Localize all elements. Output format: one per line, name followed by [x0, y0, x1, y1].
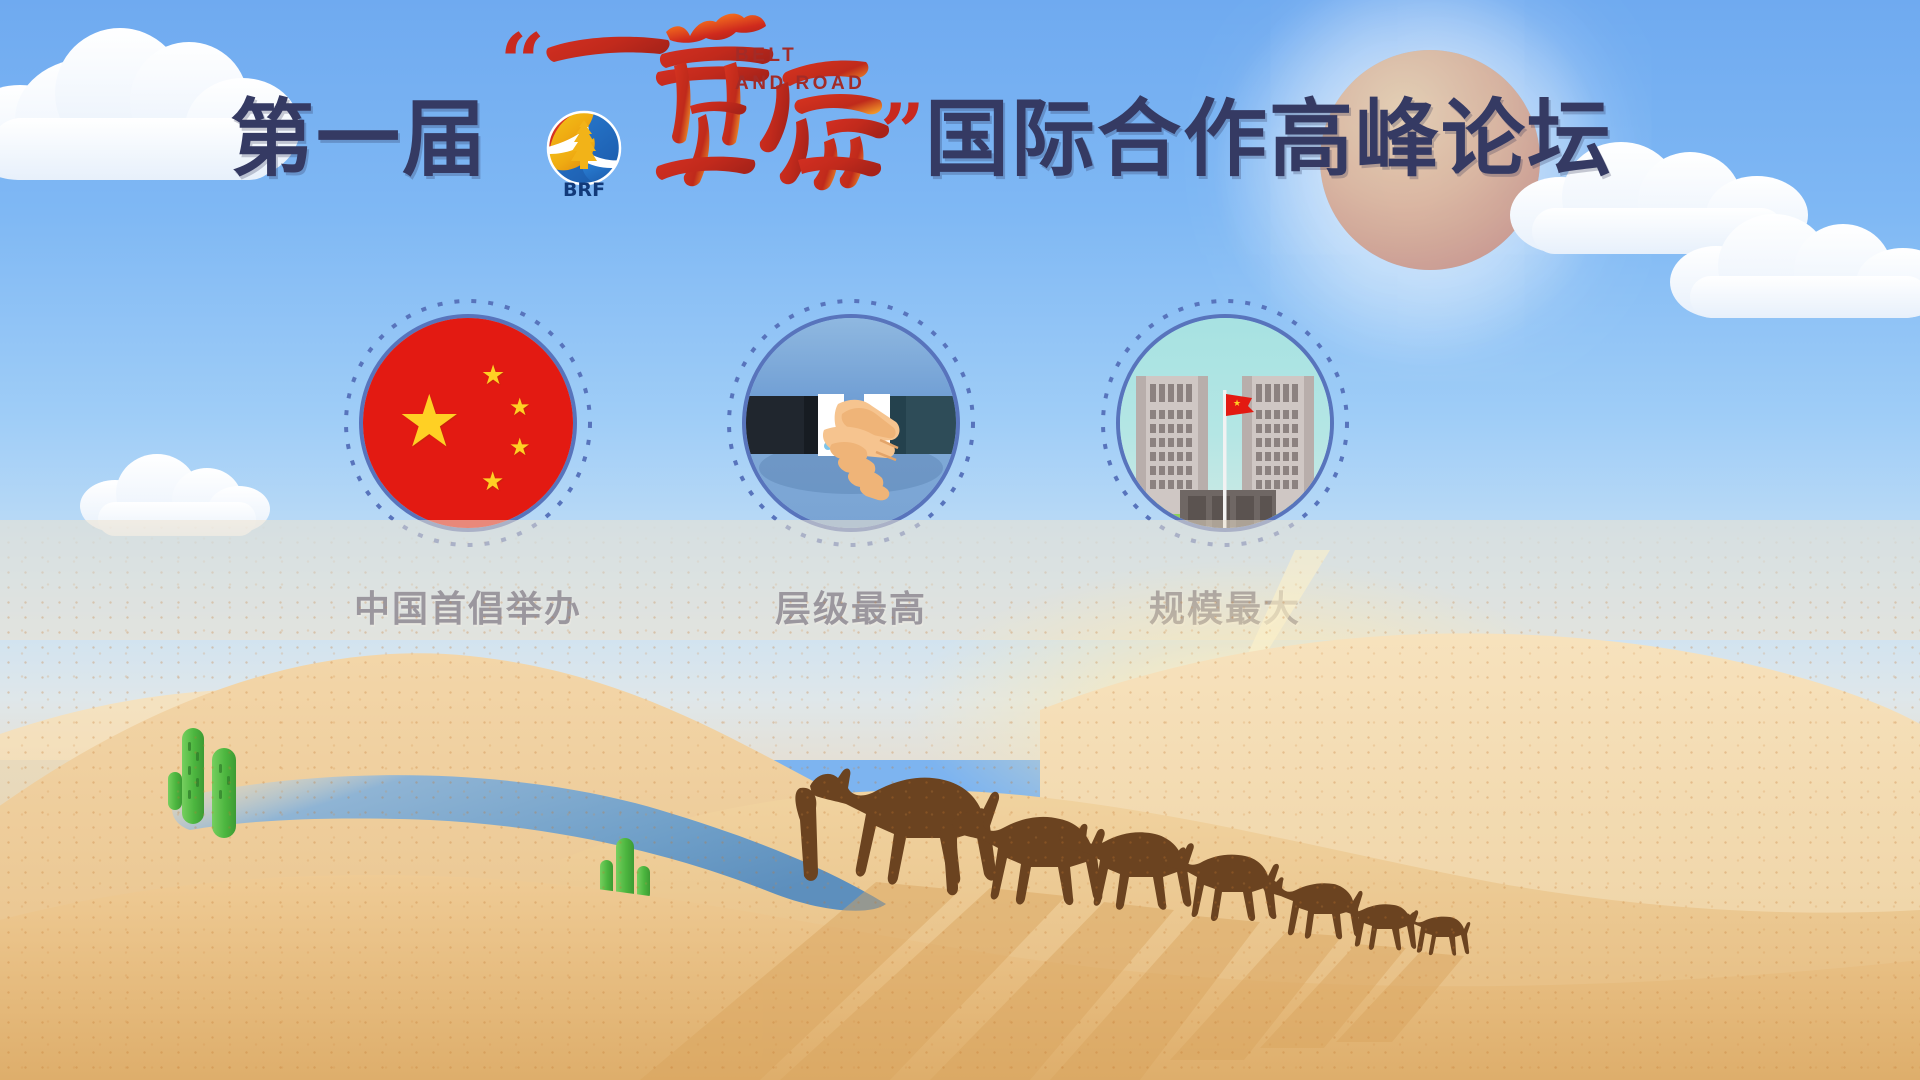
feature-ring-3: ★ [1090, 288, 1360, 558]
svg-text:★: ★ [1233, 399, 1241, 409]
poster-title-band: 第一届 “ [0, 0, 1920, 230]
brf-globe-pagoda-logo: BRF [536, 104, 632, 200]
quote-open-mark: “ [500, 24, 545, 102]
belt-and-road-english: BELT AND ROAD [735, 42, 865, 98]
quote-close-mark: ” [880, 94, 925, 172]
title-suffix: 国际合作高峰论坛 [925, 72, 1613, 193]
english-line-2: AND ROAD [735, 70, 865, 98]
title-prefix: 第一届 [230, 72, 488, 193]
china-flag-icon: ★ ★ ★ ★ ★ [359, 314, 577, 532]
english-line-1: BELT [735, 42, 865, 70]
brf-logo-text: BRF [563, 179, 605, 200]
poster-canvas: 第一届 “ [0, 0, 1920, 1080]
feature-ring-1: ★ ★ ★ ★ ★ [333, 288, 603, 558]
handshake-icon [742, 314, 960, 532]
desert-scene [0, 520, 1920, 1080]
government-buildings-icon: ★ [1116, 314, 1334, 532]
feature-ring-2 [716, 288, 986, 558]
